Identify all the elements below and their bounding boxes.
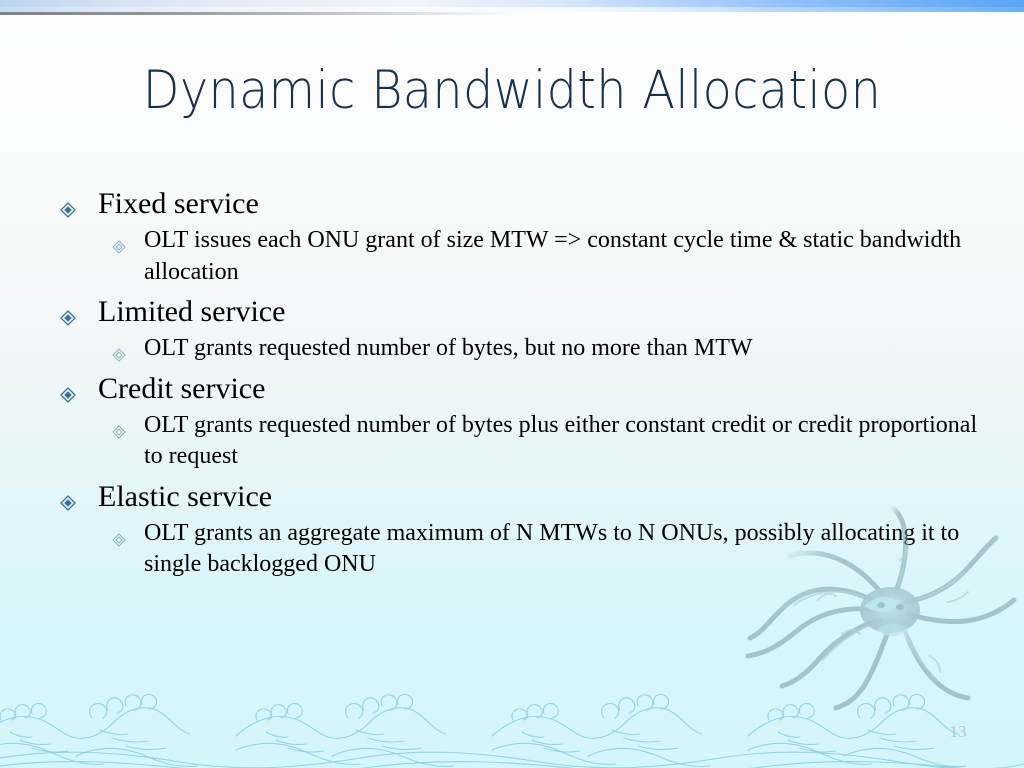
page-title: Dynamic Bandwidth Allocation (51, 62, 973, 120)
bullet-item-level2: OLT grants requested number of bytes plu… (54, 410, 994, 473)
bullet-text: Limited service (98, 295, 285, 328)
bullet-text: Fixed service (98, 187, 259, 220)
bullet-item-level1: Limited service (54, 292, 994, 331)
diamond-filled-icon (60, 387, 76, 403)
diamond-outline-icon (112, 533, 126, 547)
diamond-filled-icon (60, 202, 76, 218)
bullet-text: Elastic service (98, 480, 272, 513)
bullet-item-level2: OLT grants an aggregate maximum of N MTW… (54, 518, 994, 581)
diamond-filled-icon (60, 310, 76, 326)
wave-artwork (0, 678, 1024, 768)
bullet-list: Fixed serviceOLT issues each ONU grant o… (54, 184, 994, 585)
diamond-outline-icon (112, 348, 126, 362)
bullet-text: OLT grants requested number of bytes, bu… (144, 335, 753, 361)
bullet-text: Credit service (98, 372, 265, 405)
top-accent-rule (0, 12, 520, 15)
bullet-item-level2: OLT issues each ONU grant of size MTW =>… (54, 225, 994, 288)
bullet-text: OLT grants requested number of bytes plu… (144, 412, 977, 470)
bullet-item-level1: Credit service (54, 369, 994, 408)
presentation-slide: Dynamic Bandwidth Allocation Fixed servi… (0, 0, 1024, 768)
diamond-outline-icon (112, 425, 126, 439)
slide-number: 13 (938, 722, 978, 742)
bullet-text: OLT issues each ONU grant of size MTW =>… (144, 227, 961, 285)
diamond-outline-icon (112, 240, 126, 254)
bullet-item-level1: Fixed service (54, 184, 994, 223)
diamond-filled-icon (60, 495, 76, 511)
bullet-item-level1: Elastic service (54, 477, 994, 516)
bullet-text: OLT grants an aggregate maximum of N MTW… (144, 520, 959, 578)
bullet-item-level2: OLT grants requested number of bytes, bu… (54, 333, 994, 365)
